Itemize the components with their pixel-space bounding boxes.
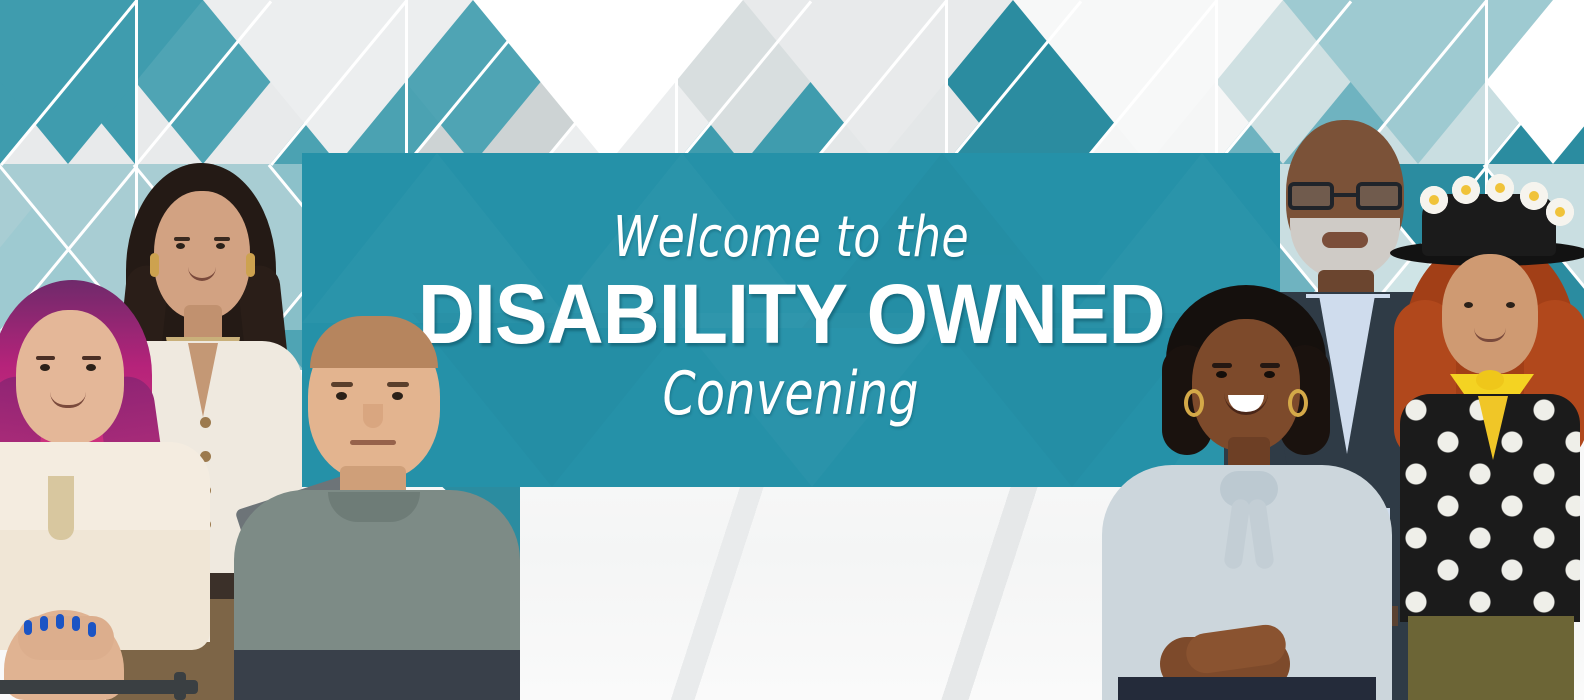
banner-hero: Welcome to the DISABILITY OWNED Convenin… bbox=[0, 0, 1584, 700]
welcome-line: Welcome to the bbox=[613, 210, 969, 266]
person-hat-woman bbox=[1394, 180, 1584, 700]
hoop-earring-icon bbox=[1288, 389, 1308, 417]
person-short-stature-man bbox=[232, 320, 522, 700]
hoop-earring-icon bbox=[1184, 389, 1204, 417]
event-subtitle: Convening bbox=[663, 364, 919, 424]
neck-tie-bow bbox=[1220, 471, 1278, 507]
person-wheelchair-user bbox=[0, 280, 228, 700]
person-seated-woman bbox=[1094, 285, 1394, 700]
eyeglasses-icon bbox=[1288, 182, 1402, 210]
wheelchair-frame bbox=[0, 680, 198, 694]
event-title: DISABILITY OWNED bbox=[418, 272, 1165, 356]
